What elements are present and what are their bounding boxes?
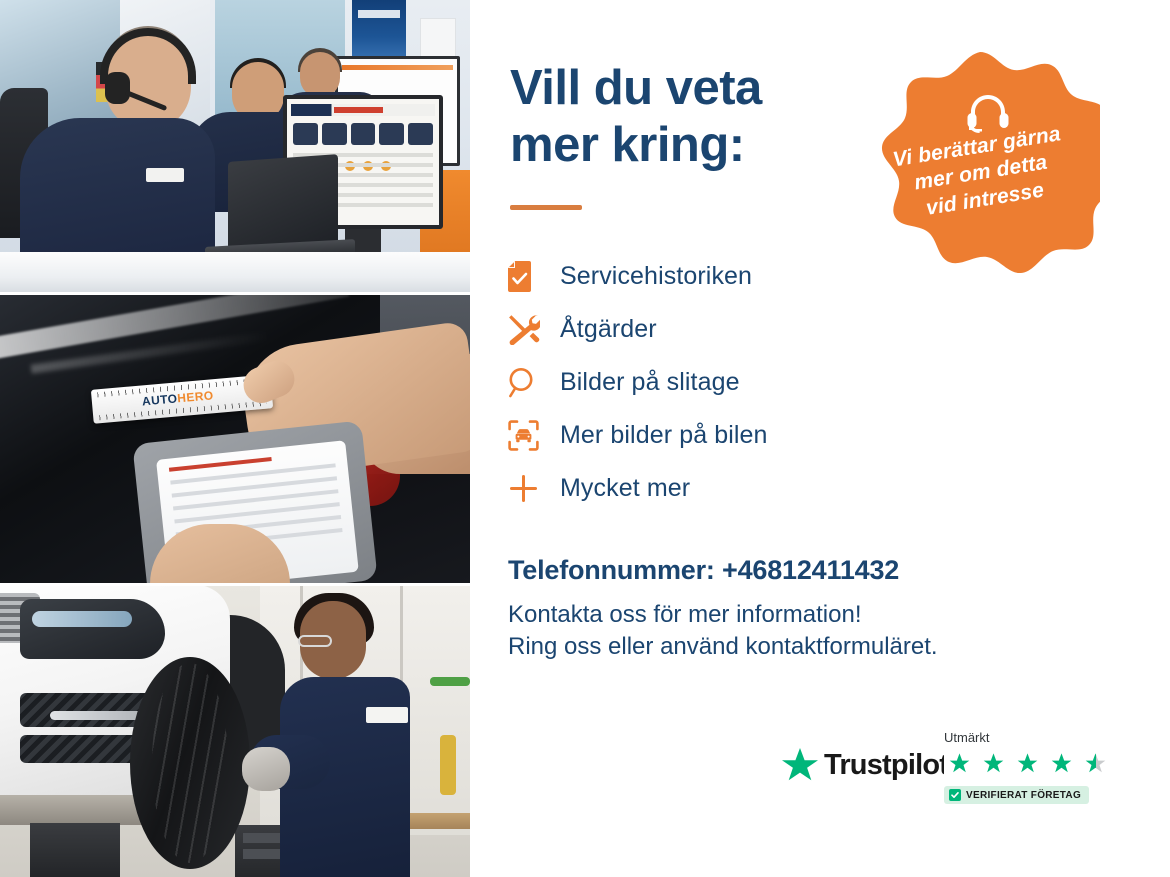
star-2 bbox=[978, 748, 1009, 779]
photo-call-centre bbox=[0, 0, 470, 294]
photo1-wall-poster bbox=[352, 0, 406, 62]
check-icon bbox=[949, 789, 961, 801]
feature-label: Bilder på slitage bbox=[560, 368, 740, 397]
feature-item-mycket-mer: Mycket mer bbox=[508, 462, 938, 515]
feature-list: Servicehistoriken Åtgärder bbox=[508, 250, 938, 515]
promo-page: AUTOHERO bbox=[0, 0, 1170, 877]
trustpilot-rating: Utmärkt bbox=[944, 730, 1124, 804]
headline-line-2: mer kring: bbox=[510, 118, 745, 172]
verified-label: VERIFIERAT FÖRETAG bbox=[966, 790, 1081, 801]
star-5-half bbox=[1080, 748, 1111, 779]
feature-label: Åtgärder bbox=[560, 315, 657, 344]
star-3 bbox=[1012, 748, 1043, 779]
photo-divider-2 bbox=[0, 583, 470, 586]
phone-label: Telefonnummer: bbox=[508, 555, 715, 585]
feature-item-atgarder: Åtgärder bbox=[508, 303, 938, 356]
car-scan-frame-icon bbox=[508, 420, 560, 451]
photo1-monitor-car-thumbnails bbox=[293, 123, 433, 145]
photo3-technician-glasses bbox=[298, 635, 332, 647]
headset-icon bbox=[966, 94, 1010, 134]
photo3-tyre-tread bbox=[152, 663, 228, 863]
photo1-desk bbox=[0, 252, 470, 294]
feature-item-bilder-pa-slitage: Bilder på slitage bbox=[508, 356, 938, 409]
feature-item-servicehistoriken: Servicehistoriken bbox=[508, 250, 938, 303]
photo1-monitor-header bbox=[291, 104, 435, 116]
photo-inspection: AUTOHERO bbox=[0, 294, 470, 585]
photo3-work-glove bbox=[242, 747, 290, 791]
photo1-laptop-screen bbox=[228, 154, 338, 254]
photo3-lift-leg bbox=[30, 823, 120, 877]
photo-column: AUTOHERO bbox=[0, 0, 470, 877]
plus-icon bbox=[508, 473, 560, 504]
magnifier-icon bbox=[508, 367, 560, 398]
photo3-yellow-post bbox=[440, 735, 456, 795]
trustpilot-wordmark: Trustpilot bbox=[824, 749, 948, 782]
tools-wrench-screwdriver-icon bbox=[508, 314, 560, 345]
document-check-icon bbox=[508, 261, 560, 292]
photo-workshop bbox=[0, 585, 470, 877]
photo1-wall-notice bbox=[420, 18, 456, 58]
ruler-brand-auto: AUTO bbox=[141, 391, 177, 408]
content-panel: Vill du veta mer kring: Vi berättar g bbox=[470, 0, 1170, 877]
photo-divider-1 bbox=[0, 292, 470, 295]
photo1-agent1-body bbox=[20, 118, 215, 268]
contact-line-2: Ring oss eller använd kontaktformuläret. bbox=[508, 631, 1048, 663]
headline-line-1: Vill du veta bbox=[510, 61, 762, 115]
feature-label: Mycket mer bbox=[560, 474, 690, 503]
trustpilot-stars bbox=[944, 748, 1124, 779]
ruler-brand-hero: HERO bbox=[177, 388, 214, 405]
trustpilot-widget[interactable]: Trustpilot Utmärkt bbox=[782, 730, 1142, 822]
photo1-agent1-name-badge bbox=[146, 168, 184, 182]
phone-line: Telefonnummer: +46812411432 bbox=[508, 555, 1048, 586]
contact-line-1: Kontakta oss för mer information! bbox=[508, 599, 1048, 631]
phone-number[interactable]: +46812411432 bbox=[722, 555, 899, 585]
photo3-green-hose bbox=[430, 677, 470, 686]
feature-item-mer-bilder-pa-bilen: Mer bilder på bilen bbox=[508, 409, 938, 462]
star-4 bbox=[1046, 748, 1077, 779]
trustpilot-rating-word: Utmärkt bbox=[944, 730, 1124, 745]
contact-block: Telefonnummer: +46812411432 Kontakta oss… bbox=[508, 555, 1048, 664]
feature-label: Servicehistoriken bbox=[560, 262, 752, 291]
trustpilot-logo: Trustpilot bbox=[782, 748, 948, 782]
headline-underline bbox=[510, 205, 582, 210]
trustpilot-star-icon bbox=[782, 748, 818, 782]
photo1-agent1-earcup bbox=[105, 72, 130, 104]
star-1 bbox=[944, 748, 975, 779]
feature-label: Mer bilder på bilen bbox=[560, 421, 768, 450]
photo3-headlight bbox=[20, 599, 165, 659]
verified-business-badge: VERIFIERAT FÖRETAG bbox=[944, 786, 1089, 804]
photo3-technician-badge bbox=[366, 707, 408, 723]
